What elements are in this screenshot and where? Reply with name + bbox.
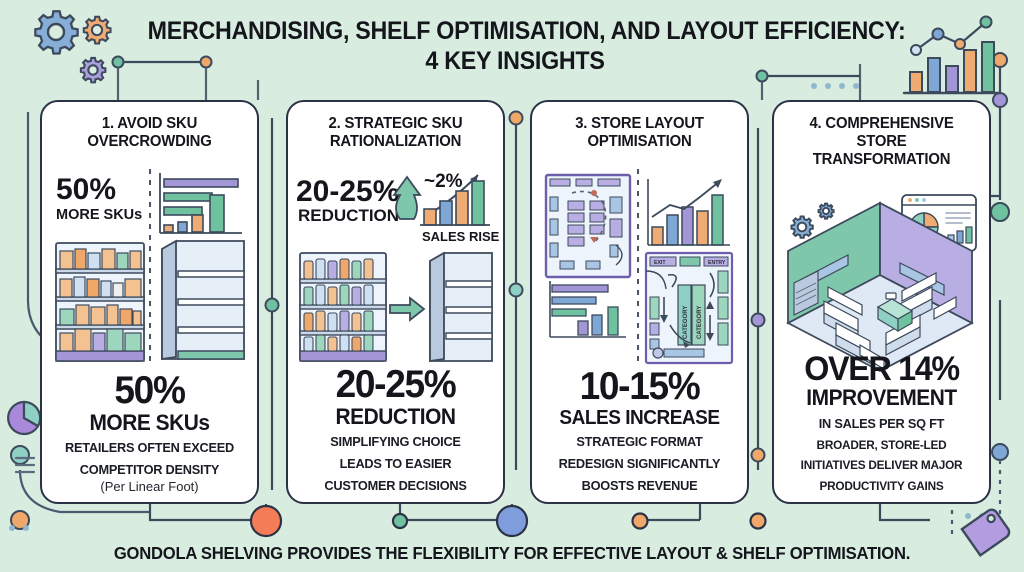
card-1-art-stat-value: 50%	[56, 173, 116, 206]
card-1-big-number: 50%	[53, 372, 246, 411]
card-1-note-line1: RETAILERS OFTEN EXCEED	[52, 441, 247, 456]
card-3-stats: 10-15% SALES INCREASE STRATEGIC FORMAT R…	[532, 368, 747, 494]
card-4-note-line1: IN SALES PER SQ FT	[784, 417, 979, 432]
card-3-mid-label: SALES INCREASE	[543, 408, 736, 428]
card-1-artwork: 50% MORE SKUs	[42, 157, 257, 372]
card-1-title: 1. AVOID SKU OVERCROWDING	[54, 115, 245, 151]
card-4-note-line4: PRODUCTIVITY GAINS	[784, 480, 979, 494]
card-3-big-number: 10-15%	[543, 368, 736, 407]
card-3-plan-label-cat2: CATEGORY	[697, 306, 703, 339]
card-2-stats: 20-25% REDUCTION SIMPLIFYING CHOICE LEAD…	[288, 366, 503, 494]
card-2-art-stat-value: 20-25%	[296, 175, 399, 208]
card-4-big-number: OVER 14%	[785, 353, 978, 387]
card-3-plan-label-cat1: CATEGORY	[683, 306, 689, 339]
card-3-title-line2: OPTIMISATION	[587, 133, 691, 150]
page-title-line2: 4 KEY INSIGHTS	[148, 46, 883, 76]
page-title-line1: MERCHANDISING, SHELF OPTIMISATION, AND L…	[148, 16, 883, 46]
crowded-shelf-illustration	[56, 243, 144, 361]
card-3-note-line2: REDESIGN SIGNIFICANTLY	[542, 457, 737, 472]
footer-statement: GONDOLA SHELVING PROVIDES THE FLEXIBILIT…	[26, 543, 999, 564]
card-1-title-line2: OVERCROWDING	[87, 133, 211, 150]
card-3-plan-label-exit: EXIT	[654, 260, 666, 266]
card-2-big-number: 20-25%	[299, 366, 492, 405]
insight-card-4[interactable]: 4. COMPREHENSIVE STORE TRANSFORMATION	[772, 100, 991, 504]
empty-shelf-illustration	[162, 241, 244, 359]
card-1-mid-label: MORE SKUs	[53, 412, 246, 434]
card-3-artwork: EXIT ENTRY CATEGORY CATEGORY	[532, 157, 747, 372]
card-2-title-line1: 2. STRATEGIC SKU	[329, 115, 463, 132]
card-3-title: 3. STORE LAYOUT OPTIMISATION	[544, 115, 735, 151]
card-2-note-line2: LEADS TO EASIER	[298, 457, 493, 472]
infographic-canvas: MERCHANDISING, SHELF OPTIMISATION, AND L…	[0, 0, 1024, 572]
insight-card-1[interactable]: 1. AVOID SKU OVERCROWDING 50% MORE SKUs	[40, 100, 259, 504]
card-4-note-line2: BROADER, STORE-LED	[784, 439, 979, 453]
card-2-note-line3: CUSTOMER DECISIONS	[298, 479, 493, 494]
page-header: MERCHANDISING, SHELF OPTIMISATION, AND L…	[120, 16, 910, 76]
full-product-shelf-illustration	[300, 253, 386, 361]
card-3-note-line1: STRATEGIC FORMAT	[542, 435, 737, 450]
card-4-title: 4. COMPREHENSIVE STORE TRANSFORMATION	[786, 115, 977, 169]
card-4-mid-label: IMPROVEMENT	[785, 387, 978, 409]
insight-card-3[interactable]: 3. STORE LAYOUT OPTIMISATION	[530, 100, 749, 504]
card-1-note-line2: COMPETITOR DENSITY	[52, 463, 247, 478]
store-floorplan-illustration	[546, 175, 630, 277]
slim-gondola-illustration	[430, 253, 492, 361]
card-2-art-stat-label: REDUCTION	[298, 206, 399, 225]
card-2-mid-label: REDUCTION	[299, 406, 492, 428]
card-4-stats: OVER 14% IMPROVEMENT IN SALES PER SQ FT …	[774, 353, 989, 494]
card-1-note-line3: (Per Linear Foot)	[48, 479, 251, 494]
customer-flow-plan: EXIT ENTRY CATEGORY CATEGORY	[646, 253, 732, 363]
card-3-note-line3: BOOSTS REVENUE	[542, 479, 737, 494]
card-1-title-line1: 1. AVOID SKU	[102, 115, 197, 132]
card-3-title-line1: 3. STORE LAYOUT	[575, 115, 704, 132]
card-3-plan-label-entry: ENTRY	[708, 260, 726, 266]
card-1-art-stat-label: MORE SKUs	[56, 207, 142, 223]
card-2-note-line1: SIMPLIFYING CHOICE	[298, 435, 493, 450]
card-4-note-line3: INITIATIVES DELIVER MAJOR	[784, 459, 979, 473]
card-1-stats: 50% MORE SKUs RETAILERS OFTEN EXCEED COM…	[42, 372, 257, 494]
insight-card-2[interactable]: 2. STRATEGIC SKU RATIONALIZATION 20-25% …	[286, 100, 505, 504]
card-2-art-secondary-value: ~2%	[424, 171, 463, 192]
card-2-title-line2: RATIONALIZATION	[330, 133, 461, 150]
card-4-title-line2: STORE TRANSFORMATION	[813, 133, 951, 168]
card-2-artwork: 20-25% REDUCTION ~2% SALES RISE	[288, 157, 503, 372]
bar-line-chart-icon	[904, 17, 1000, 94]
card-2-art-secondary-label: SALES RISE	[422, 229, 500, 244]
gear-cluster-icon	[35, 11, 110, 82]
card-4-title-line1: 4. COMPREHENSIVE	[809, 115, 953, 132]
card-2-title: 2. STRATEGIC SKU RATIONALIZATION	[300, 115, 491, 151]
